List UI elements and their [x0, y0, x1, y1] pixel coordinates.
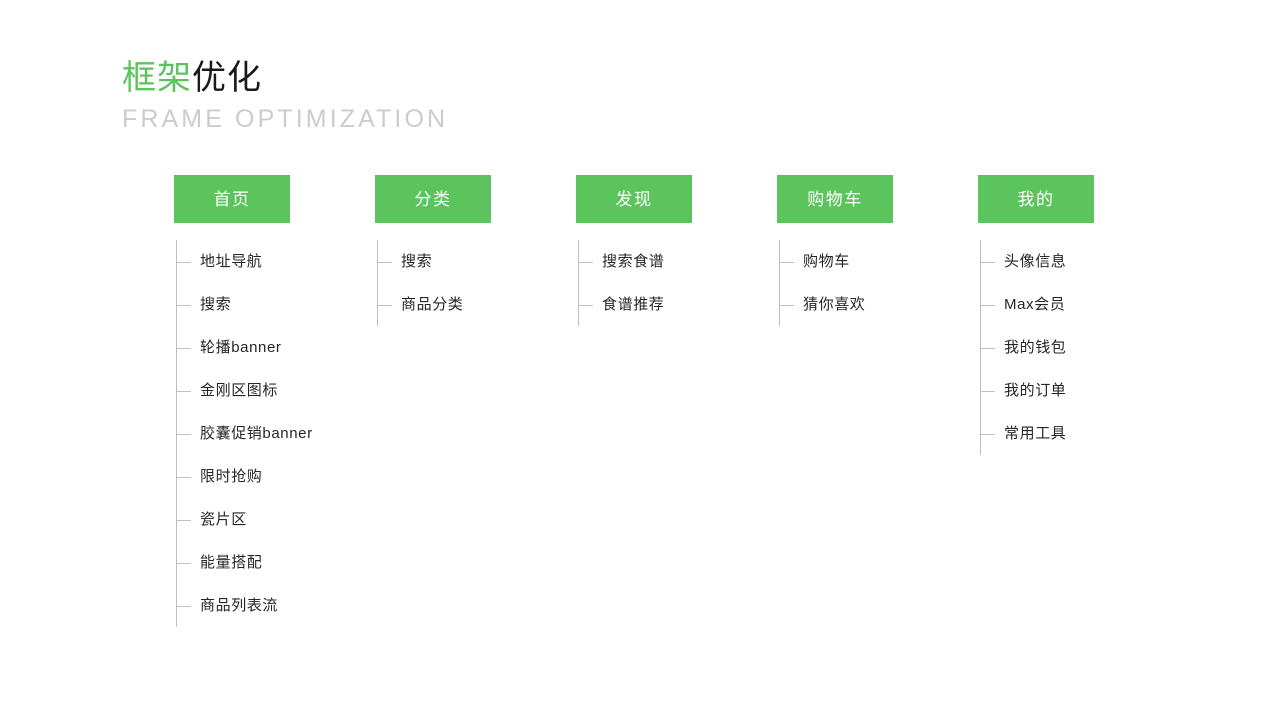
tree-item-label: 我的钱包: [1004, 340, 1066, 355]
tree-connector-icon: [980, 391, 995, 392]
tree-item[interactable]: 胶囊促销banner: [200, 412, 364, 455]
page-title-dark: 优化: [192, 59, 262, 97]
tree-item-label: 食谱推荐: [602, 297, 664, 312]
column-children-list: 头像信息Max会员我的钱包我的订单常用工具: [978, 240, 1168, 455]
page-subtitle: FRAME OPTIMIZATION: [122, 104, 448, 134]
tree-connector-icon: [176, 391, 191, 392]
tree-item-label: 商品列表流: [200, 598, 278, 613]
column-children-list: 购物车猜你喜欢: [777, 240, 967, 326]
diagram-column: 发现搜索食谱食谱推荐: [576, 175, 766, 326]
column-header-box[interactable]: 发现: [576, 175, 692, 223]
tree-item[interactable]: 瓷片区: [200, 498, 364, 541]
tree-item[interactable]: 搜索: [200, 283, 364, 326]
tree-item[interactable]: 我的钱包: [1004, 326, 1168, 369]
tree-connector-icon: [980, 305, 995, 306]
tree-item[interactable]: 地址导航: [200, 240, 364, 283]
tree-item-label: 搜索: [200, 297, 231, 312]
tree-item-label: 头像信息: [1004, 254, 1066, 269]
column-children-list: 地址导航搜索轮播banner金刚区图标胶囊促销banner限时抢购瓷片区能量搭配…: [174, 240, 364, 627]
diagram-column: 首页地址导航搜索轮播banner金刚区图标胶囊促销banner限时抢购瓷片区能量…: [174, 175, 364, 627]
tree-item-label: 瓷片区: [200, 512, 247, 527]
tree-item[interactable]: 头像信息: [1004, 240, 1168, 283]
tree-item[interactable]: 猜你喜欢: [803, 283, 967, 326]
tree-item-label: 轮播banner: [200, 340, 282, 355]
column-children-list: 搜索食谱食谱推荐: [576, 240, 766, 326]
tree-connector-icon: [176, 477, 191, 478]
tree-item-label: 我的订单: [1004, 383, 1066, 398]
tree-connector-icon: [980, 348, 995, 349]
tree-item-label: 猜你喜欢: [803, 297, 865, 312]
tree-item[interactable]: 搜索: [401, 240, 565, 283]
tree-connector-icon: [176, 262, 191, 263]
column-header-label: 分类: [415, 191, 452, 208]
tree-item[interactable]: 商品列表流: [200, 584, 364, 627]
tree-connector-icon: [377, 305, 392, 306]
page-title-green: 框架: [122, 59, 192, 97]
column-header-label: 我的: [1018, 191, 1055, 208]
column-header-box[interactable]: 首页: [174, 175, 290, 223]
tree-item-label: 地址导航: [200, 254, 262, 269]
tree-connector-icon: [377, 262, 392, 263]
tree-item[interactable]: 我的订单: [1004, 369, 1168, 412]
column-header-label: 发现: [616, 191, 653, 208]
diagram-column: 购物车购物车猜你喜欢: [777, 175, 967, 326]
tree-item[interactable]: Max会员: [1004, 283, 1168, 326]
tree-item-label: 搜索食谱: [602, 254, 664, 269]
tree-item-label: 常用工具: [1004, 426, 1066, 441]
column-header-box[interactable]: 购物车: [777, 175, 893, 223]
tree-item-label: 能量搭配: [200, 555, 262, 570]
tree-connector-icon: [980, 434, 995, 435]
tree-item[interactable]: 常用工具: [1004, 412, 1168, 455]
tree-item[interactable]: 购物车: [803, 240, 967, 283]
tree-item-label: 商品分类: [401, 297, 463, 312]
column-header-box[interactable]: 分类: [375, 175, 491, 223]
page-header: 框架优化 FRAME OPTIMIZATION: [122, 56, 448, 134]
tree-item[interactable]: 轮播banner: [200, 326, 364, 369]
tree-connector-icon: [980, 262, 995, 263]
tree-item-label: 胶囊促销banner: [200, 426, 313, 441]
tree-item-label: 搜索: [401, 254, 432, 269]
column-header-box[interactable]: 我的: [978, 175, 1094, 223]
column-header-label: 购物车: [807, 191, 863, 208]
tree-connector-icon: [176, 305, 191, 306]
tree-item[interactable]: 搜索食谱: [602, 240, 766, 283]
tree-item[interactable]: 限时抢购: [200, 455, 364, 498]
tree-connector-icon: [578, 262, 593, 263]
tree-item-label: 金刚区图标: [200, 383, 278, 398]
tree-connector-icon: [578, 305, 593, 306]
tree-item[interactable]: 食谱推荐: [602, 283, 766, 326]
tree-item[interactable]: 金刚区图标: [200, 369, 364, 412]
tree-item-label: 购物车: [803, 254, 850, 269]
tree-item-label: Max会员: [1004, 297, 1065, 312]
tree-connector-icon: [176, 606, 191, 607]
diagram-column: 分类搜索商品分类: [375, 175, 565, 326]
diagram-column: 我的头像信息Max会员我的钱包我的订单常用工具: [978, 175, 1168, 455]
tree-connector-icon: [779, 305, 794, 306]
tree-connector-icon: [176, 520, 191, 521]
tree-item[interactable]: 商品分类: [401, 283, 565, 326]
column-header-label: 首页: [214, 191, 251, 208]
column-children-list: 搜索商品分类: [375, 240, 565, 326]
tree-connector-icon: [176, 434, 191, 435]
tree-connector-icon: [176, 348, 191, 349]
tree-item[interactable]: 能量搭配: [200, 541, 364, 584]
tree-connector-icon: [176, 563, 191, 564]
tree-item-label: 限时抢购: [200, 469, 262, 484]
tree-connector-icon: [779, 262, 794, 263]
page-title: 框架优化: [122, 56, 448, 100]
